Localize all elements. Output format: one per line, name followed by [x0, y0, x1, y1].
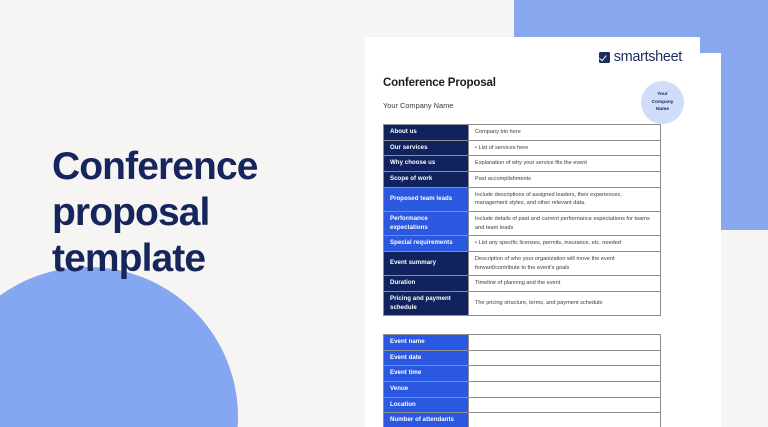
row-label: Our services — [384, 140, 469, 156]
row-label: Number of attendants — [384, 413, 469, 427]
row-value[interactable] — [469, 413, 661, 427]
row-value: Description of who your organization wil… — [469, 251, 661, 275]
event-details-table: Event nameEvent dateEvent timeVenueLocat… — [383, 334, 661, 427]
table-row: Event summaryDescription of who your org… — [384, 251, 661, 275]
row-label: Why choose us — [384, 156, 469, 172]
smartsheet-logo: smartsheet — [383, 50, 682, 65]
document-title: Conference Proposal — [383, 77, 682, 89]
row-label: Location — [384, 397, 469, 413]
event-details-body: Event nameEvent dateEvent timeVenueLocat… — [384, 335, 661, 427]
row-label: Event name — [384, 335, 469, 351]
table-row: Scope of workPast accomplishments — [384, 171, 661, 187]
table-row: Venue — [384, 382, 661, 398]
badge-line-3: Name — [656, 106, 669, 113]
row-value: Past accomplishments — [469, 171, 661, 187]
row-label: Venue — [384, 382, 469, 398]
document-subtitle: Your Company Name — [383, 101, 682, 110]
table-row: DurationTimeline of planning and the eve… — [384, 276, 661, 292]
headline-line-3: template — [52, 236, 258, 282]
document-page-front: smartsheet Conference Proposal Your Comp… — [365, 37, 700, 427]
document-header: Conference Proposal Your Company Name Yo… — [383, 77, 682, 110]
table-row: Event name — [384, 335, 661, 351]
headline-line-1: Conference — [52, 144, 258, 190]
badge-line-2: Company — [652, 99, 674, 106]
proposal-sections-body: About usCompany bio hereOur services• Li… — [384, 125, 661, 316]
table-row: Special requirements• List any specific … — [384, 236, 661, 252]
row-value[interactable] — [469, 350, 661, 366]
company-logo-badge: Your Company Name — [641, 81, 684, 124]
row-value[interactable] — [469, 366, 661, 382]
row-label: Event time — [384, 366, 469, 382]
row-value[interactable] — [469, 382, 661, 398]
table-row: Our services• List of services here — [384, 140, 661, 156]
smartsheet-wordmark: smartsheet — [614, 50, 682, 65]
row-label: Event summary — [384, 251, 469, 275]
row-label: Special requirements — [384, 236, 469, 252]
row-value[interactable] — [469, 397, 661, 413]
smartsheet-checkbox-icon — [599, 52, 610, 63]
row-value: Explanation of why your service fits the… — [469, 156, 661, 172]
badge-line-1: Your — [657, 91, 668, 98]
row-value: • List of services here — [469, 140, 661, 156]
table-row: Location — [384, 397, 661, 413]
row-label: Pricing and payment schedule — [384, 291, 469, 315]
row-label: Event date — [384, 350, 469, 366]
table-row: Pricing and payment scheduleThe pricing … — [384, 291, 661, 315]
table-row: Event date — [384, 350, 661, 366]
row-value: The pricing structure, terms, and paymen… — [469, 291, 661, 315]
promo-headline: Conference proposal template — [52, 144, 258, 282]
table-row: Event time — [384, 366, 661, 382]
row-label: Performance expectations — [384, 211, 469, 235]
table-row: Performance expectationsInclude details … — [384, 211, 661, 235]
row-label: Scope of work — [384, 171, 469, 187]
row-value: Include descriptions of assigned leaders… — [469, 187, 661, 211]
row-value[interactable] — [469, 335, 661, 351]
headline-line-2: proposal — [52, 190, 258, 236]
row-value: • List any specific licenses, permits, i… — [469, 236, 661, 252]
background-circle-bottom-left — [0, 267, 238, 427]
table-row: Number of attendants — [384, 413, 661, 427]
row-label: Proposed team leads — [384, 187, 469, 211]
row-label: Duration — [384, 276, 469, 292]
row-value: Company bio here — [469, 125, 661, 141]
row-value: Include details of past and current perf… — [469, 211, 661, 235]
table-row: About usCompany bio here — [384, 125, 661, 141]
table-row: Why choose usExplanation of why your ser… — [384, 156, 661, 172]
row-value: Timeline of planning and the event — [469, 276, 661, 292]
row-label: About us — [384, 125, 469, 141]
table-row: Proposed team leadsInclude descriptions … — [384, 187, 661, 211]
proposal-sections-table: About usCompany bio hereOur services• Li… — [383, 124, 661, 316]
